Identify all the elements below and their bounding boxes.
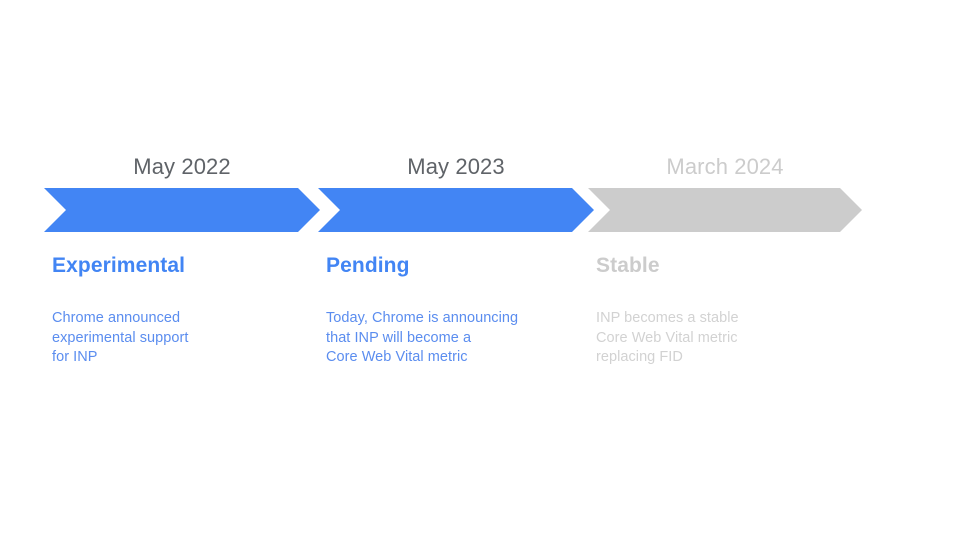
stage-description-2: Today, Chrome is announcing that INP wil… [326,309,586,368]
stage-date-label-2: May 2023 [318,154,594,180]
stage-text-block-1: Experimental Chrome announced experiment… [52,252,312,368]
stage-text-block-2: Pending Today, Chrome is announcing that… [326,252,586,368]
chevron-arrow-icon [318,188,594,232]
stage-date-label-1: May 2022 [44,154,320,180]
stage-chevron-1 [44,188,320,232]
stage-description-1: Chrome announced experimental support fo… [52,309,312,368]
stage-chevron-3 [588,188,862,232]
stage-heading-2: Pending [326,252,586,279]
timeline-diagram: May 2022 Experimental Chrome announced e… [0,0,960,540]
stage-description-3: INP becomes a stable Core Web Vital metr… [596,309,856,368]
stage-date-label-3: March 2024 [588,154,862,180]
stage-heading-3: Stable [596,252,856,279]
stage-chevron-2 [318,188,594,232]
stage-heading-1: Experimental [52,252,312,279]
chevron-arrow-icon [44,188,320,232]
chevron-arrow-icon [588,188,862,232]
stage-text-block-3: Stable INP becomes a stable Core Web Vit… [596,252,856,368]
